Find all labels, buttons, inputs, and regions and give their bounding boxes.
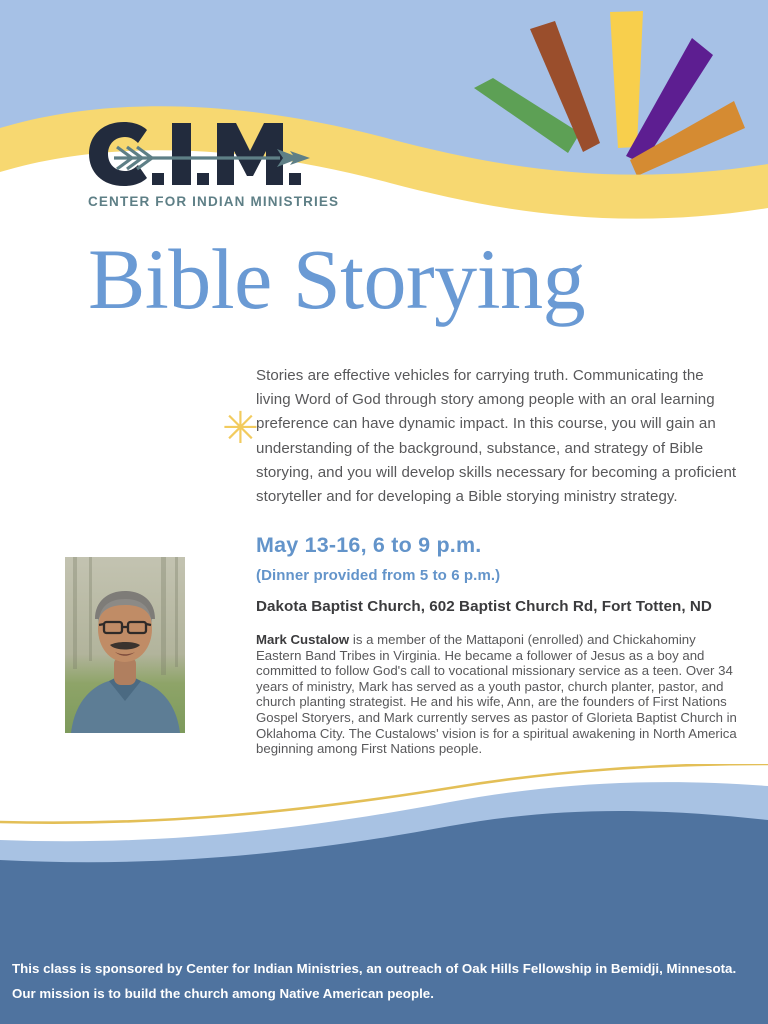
page-title: Bible Storying bbox=[88, 236, 728, 322]
cim-logo-mark bbox=[84, 118, 314, 190]
presenter-name: Mark Custalow bbox=[256, 632, 349, 647]
logo-dot-3 bbox=[289, 173, 301, 185]
event-date-time: May 13-16, 6 to 9 p.m. bbox=[256, 533, 481, 558]
organization-logo: CENTER FOR INDIAN MINISTRIES bbox=[84, 118, 384, 209]
organization-tagline: CENTER FOR INDIAN MINISTRIES bbox=[88, 194, 384, 209]
logo-letter-m bbox=[217, 123, 283, 185]
asterisk-bullet-icon: ✳ bbox=[222, 409, 258, 449]
logo-dot-1 bbox=[152, 173, 164, 185]
flyer-page: CENTER FOR INDIAN MINISTRIES Bible Story… bbox=[0, 0, 768, 1024]
logo-dot-2 bbox=[197, 173, 209, 185]
course-description: Stories are effective vehicles for carry… bbox=[256, 364, 742, 509]
presenter-photo bbox=[65, 557, 185, 733]
event-venue-address: Dakota Baptist Church, 602 Baptist Churc… bbox=[256, 598, 712, 615]
footer-sponsor-text: This class is sponsored by Center for In… bbox=[12, 956, 754, 1006]
presenter-bio: Mark Custalow is a member of the Mattapo… bbox=[256, 632, 744, 757]
event-dinner-note: (Dinner provided from 5 to 6 p.m.) bbox=[256, 567, 500, 584]
logo-letter-i bbox=[172, 123, 191, 185]
presenter-bio-text: is a member of the Mattaponi (enrolled) … bbox=[256, 632, 737, 756]
